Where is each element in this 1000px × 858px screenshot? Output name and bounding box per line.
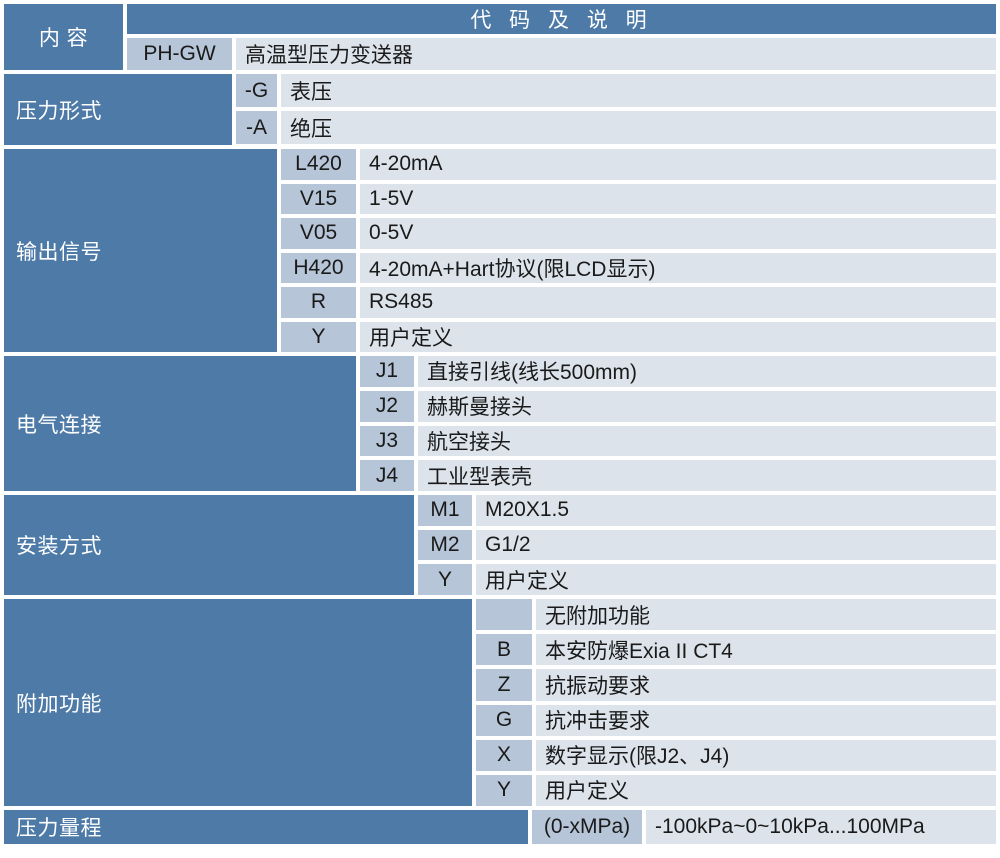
output-signal-rows: L420 4-20mA V15 1-5V V05 0-5V H420 4-20m… (277, 149, 996, 352)
desc-cell: M20X1.5 (476, 495, 996, 526)
desc-cell: 抗冲击要求 (536, 705, 996, 736)
code-cell: R (281, 287, 356, 318)
desc-cell: 4-20mA+Hart协议(限LCD显示) (360, 253, 996, 284)
table-row: J1 直接引线(线长500mm) (356, 356, 996, 387)
table-row: J3 航空接头 (356, 426, 996, 457)
desc-cell: -100kPa~0~10kPa...100MPa (646, 810, 996, 844)
code-cell: J2 (360, 391, 414, 422)
code-cell: B (476, 634, 532, 665)
desc-cell: 工业型表壳 (418, 460, 996, 491)
desc-cell: 用户定义 (476, 564, 996, 595)
category-label-pressure-range: 压力量程 (4, 810, 528, 844)
category-label-mounting-type: 安装方式 (4, 495, 414, 595)
category-label-additional-function: 附加功能 (4, 599, 472, 806)
desc-cell: 赫斯曼接头 (418, 391, 996, 422)
mounting-type-rows: M1 M20X1.5 M2 G1/2 Y 用户定义 (414, 495, 996, 595)
code-cell: H420 (281, 253, 356, 284)
additional-function-rows: 无附加功能 B 本安防爆Exia II CT4 Z 抗振动要求 G 抗冲击要求 … (472, 599, 996, 806)
category-label-content: 内 容 (4, 4, 123, 70)
table-row: V15 1-5V (277, 184, 996, 215)
desc-cell: 用户定义 (360, 322, 996, 353)
table-row: H420 4-20mA+Hart协议(限LCD显示) (277, 253, 996, 284)
table-row: M2 G1/2 (414, 530, 996, 561)
code-cell: Y (281, 322, 356, 353)
table-row: -G 表压 (232, 74, 996, 107)
table-row: Y 用户定义 (472, 775, 996, 806)
code-cell: PH-GW (127, 38, 232, 70)
desc-cell: 用户定义 (536, 775, 996, 806)
desc-cell: 无附加功能 (536, 599, 996, 630)
section-additional-function: 附加功能 无附加功能 B 本安防爆Exia II CT4 Z 抗振动要求 G 抗… (4, 599, 996, 806)
section-mounting-type: 安装方式 M1 M20X1.5 M2 G1/2 Y 用户定义 (4, 495, 996, 595)
code-cell: L420 (281, 149, 356, 180)
table-row: PH-GW 高温型压力变送器 (123, 38, 996, 70)
desc-cell: RS485 (360, 287, 996, 318)
table-row: Y 用户定义 (414, 564, 996, 595)
table-row: Z 抗振动要求 (472, 669, 996, 700)
table-row: M1 M20X1.5 (414, 495, 996, 526)
code-cell: G (476, 705, 532, 736)
desc-cell: 航空接头 (418, 426, 996, 457)
table-row: 无附加功能 (472, 599, 996, 630)
category-label-output-signal: 输出信号 (4, 149, 277, 352)
table-row: X 数字显示(限J2、J4) (472, 740, 996, 771)
section-pressure-type: 压力形式 -G 表压 -A 绝压 (4, 74, 996, 145)
code-cell: (0-xMPa) (532, 810, 642, 844)
desc-cell: 本安防爆Exia II CT4 (536, 634, 996, 665)
code-cell: Z (476, 669, 532, 700)
code-cell: V05 (281, 218, 356, 249)
desc-cell: 直接引线(线长500mm) (418, 356, 996, 387)
table-row: R RS485 (277, 287, 996, 318)
code-cell: -A (236, 111, 277, 144)
section-output-signal: 输出信号 L420 4-20mA V15 1-5V V05 0-5V H420 … (4, 149, 996, 352)
desc-cell: G1/2 (476, 530, 996, 561)
table-row: J2 赫斯曼接头 (356, 391, 996, 422)
product-code-spec-table: 内 容 代 码 及 说 明 PH-GW 高温型压力变送器 压力形式 -G 表压 … (0, 0, 1000, 858)
content-rows: 代 码 及 说 明 PH-GW 高温型压力变送器 (123, 4, 996, 70)
code-cell: J4 (360, 460, 414, 491)
section-content: 内 容 代 码 及 说 明 PH-GW 高温型压力变送器 (4, 4, 996, 70)
desc-cell: 表压 (281, 74, 996, 107)
code-cell: V15 (281, 184, 356, 215)
category-label-electrical-connection: 电气连接 (4, 356, 356, 491)
section-electrical-connection: 电气连接 J1 直接引线(线长500mm) J2 赫斯曼接头 J3 航空接头 J… (4, 356, 996, 491)
table-row: B 本安防爆Exia II CT4 (472, 634, 996, 665)
desc-cell: 1-5V (360, 184, 996, 215)
desc-cell: 4-20mA (360, 149, 996, 180)
code-cell: J3 (360, 426, 414, 457)
code-cell: -G (236, 74, 277, 107)
desc-cell: 数字显示(限J2、J4) (536, 740, 996, 771)
desc-cell: 高温型压力变送器 (236, 38, 996, 70)
section-pressure-range: 压力量程 (0-xMPa) -100kPa~0~10kPa...100MPa (4, 810, 996, 844)
table-row: G 抗冲击要求 (472, 705, 996, 736)
code-cell: M1 (418, 495, 472, 526)
table-row: -A 绝压 (232, 111, 996, 144)
desc-cell: 0-5V (360, 218, 996, 249)
code-cell: Y (418, 564, 472, 595)
code-cell: X (476, 740, 532, 771)
code-cell: J1 (360, 356, 414, 387)
electrical-connection-rows: J1 直接引线(线长500mm) J2 赫斯曼接头 J3 航空接头 J4 工业型… (356, 356, 996, 491)
table-row: J4 工业型表壳 (356, 460, 996, 491)
code-cell: Y (476, 775, 532, 806)
code-description-title: 代 码 及 说 明 (127, 4, 996, 34)
desc-cell: 抗振动要求 (536, 669, 996, 700)
desc-cell: 绝压 (281, 111, 996, 144)
table-row: Y 用户定义 (277, 322, 996, 353)
code-cell: M2 (418, 530, 472, 561)
table-row: L420 4-20mA (277, 149, 996, 180)
category-label-pressure-type: 压力形式 (4, 74, 232, 145)
pressure-type-rows: -G 表压 -A 绝压 (232, 74, 996, 145)
table-row: V05 0-5V (277, 218, 996, 249)
code-cell (476, 599, 532, 630)
